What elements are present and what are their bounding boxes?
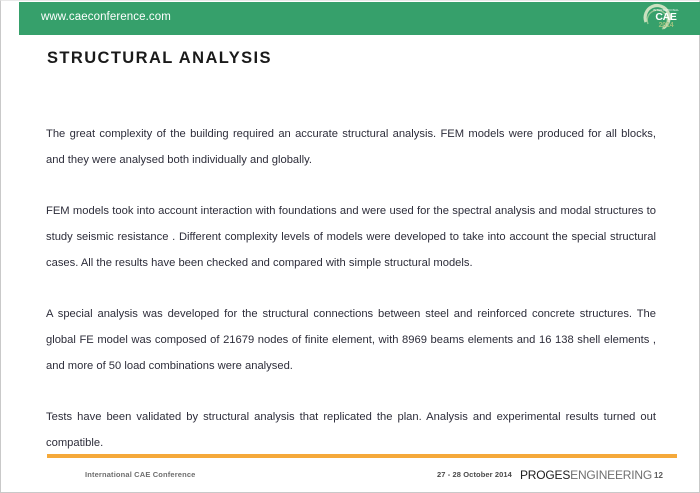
slide-body: The great complexity of the building req… — [46, 121, 656, 456]
slide: www.caeconference.com INTERNATIONAL CAE … — [0, 0, 700, 493]
footer-brand: PROGESENGINEERING — [520, 466, 652, 484]
paragraph: FEM models took into account interaction… — [46, 198, 656, 276]
svg-text:2014: 2014 — [659, 22, 674, 29]
paragraph: Tests have been validated by structural … — [46, 404, 656, 456]
paragraph: The great complexity of the building req… — [46, 121, 656, 173]
footer-date: 27 - 28 October 2014 — [437, 470, 512, 479]
footer-conference-name: International CAE Conference — [85, 470, 195, 479]
footer: International CAE Conference 27 - 28 Oct… — [47, 469, 677, 487]
conference-website-url[interactable]: www.caeconference.com — [41, 11, 171, 23]
header-band: www.caeconference.com — [19, 2, 700, 35]
footer-divider — [47, 454, 677, 458]
brand-secondary: ENGINEERING — [570, 468, 652, 482]
paragraph: A special analysis was developed for the… — [46, 301, 656, 379]
cae-conference-logo: INTERNATIONAL CAE 2014 — [639, 3, 691, 33]
page-number: 12 — [654, 471, 663, 480]
brand-primary: PROGES — [520, 468, 570, 482]
page-title: STRUCTURAL ANALYSIS — [47, 49, 272, 68]
